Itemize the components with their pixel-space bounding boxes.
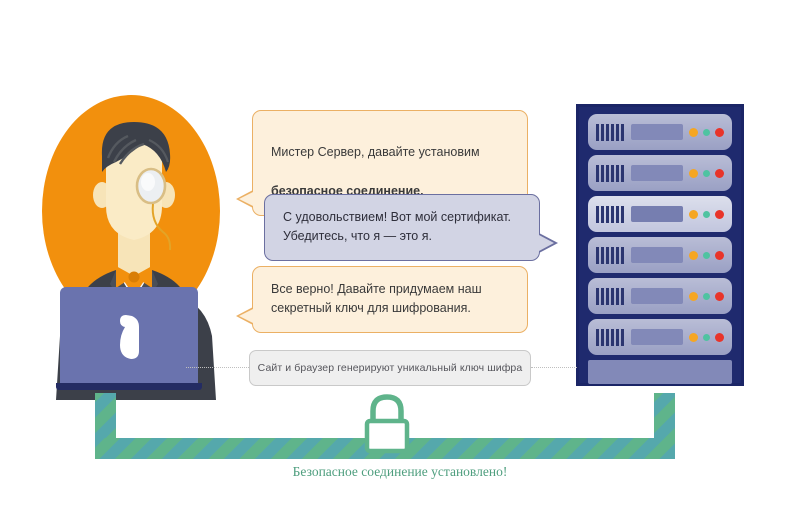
vent-grille-icon bbox=[596, 124, 624, 141]
bubble-1-line-1: Мистер Сервер, давайте установим bbox=[271, 145, 480, 159]
led-teal-icon bbox=[703, 211, 710, 218]
footer-caption: Безопасное соединение установлено! bbox=[0, 464, 800, 480]
keygen-status-box: Сайт и браузер генерируют уникальный клю… bbox=[249, 350, 531, 386]
laptop-logo bbox=[60, 287, 198, 387]
status-leds bbox=[689, 169, 724, 178]
server-unit bbox=[588, 237, 732, 273]
speech-bubble-client-2: Все верно! Давайте придумаем наш секретн… bbox=[252, 266, 528, 333]
server-unit bbox=[588, 319, 732, 355]
server-rack bbox=[576, 104, 744, 386]
status-leds bbox=[689, 128, 724, 137]
server-unit bbox=[588, 114, 732, 150]
padlock-icon bbox=[358, 391, 416, 455]
led-red-icon bbox=[715, 333, 724, 342]
led-red-icon bbox=[715, 251, 724, 260]
speech-bubble-server-1: С удовольствием! Вот мой сертификат. Убе… bbox=[264, 194, 540, 261]
led-teal-icon bbox=[703, 129, 710, 136]
drive-bay bbox=[631, 165, 684, 181]
led-red-icon bbox=[715, 128, 724, 137]
led-teal-icon bbox=[703, 334, 710, 341]
led-red-icon bbox=[715, 292, 724, 301]
drive-bay bbox=[631, 206, 684, 222]
led-amber-icon bbox=[689, 333, 698, 342]
led-teal-icon bbox=[703, 293, 710, 300]
led-amber-icon bbox=[689, 251, 698, 260]
server-unit-highlighted bbox=[588, 196, 732, 232]
led-teal-icon bbox=[703, 170, 710, 177]
rack-base-panel bbox=[588, 360, 732, 384]
drive-bay bbox=[631, 247, 684, 263]
status-leds bbox=[689, 333, 724, 342]
server-unit bbox=[588, 278, 732, 314]
drive-bay bbox=[631, 329, 684, 345]
status-leds bbox=[689, 251, 724, 260]
server-unit bbox=[588, 155, 732, 191]
led-amber-icon bbox=[689, 128, 698, 137]
client-laptop bbox=[60, 287, 198, 387]
vent-grille-icon bbox=[596, 329, 624, 346]
keygen-connector-right bbox=[531, 367, 577, 368]
status-leds bbox=[689, 292, 724, 301]
led-teal-icon bbox=[703, 252, 710, 259]
vent-grille-icon bbox=[596, 165, 624, 182]
laptop-base bbox=[56, 383, 202, 390]
drive-bay bbox=[631, 288, 684, 304]
drive-bay bbox=[631, 124, 684, 140]
vent-grille-icon bbox=[596, 288, 624, 305]
led-amber-icon bbox=[689, 210, 698, 219]
led-red-icon bbox=[715, 169, 724, 178]
vent-grille-icon bbox=[596, 247, 624, 264]
status-leds bbox=[689, 210, 724, 219]
led-amber-icon bbox=[689, 169, 698, 178]
keygen-label: Сайт и браузер генерируют уникальный клю… bbox=[258, 362, 523, 374]
infographic-canvas: Мистер Сервер, давайте установим безопас… bbox=[0, 0, 800, 523]
keygen-connector-left bbox=[186, 367, 249, 368]
led-amber-icon bbox=[689, 292, 698, 301]
vent-grille-icon bbox=[596, 206, 624, 223]
led-red-icon bbox=[715, 210, 724, 219]
